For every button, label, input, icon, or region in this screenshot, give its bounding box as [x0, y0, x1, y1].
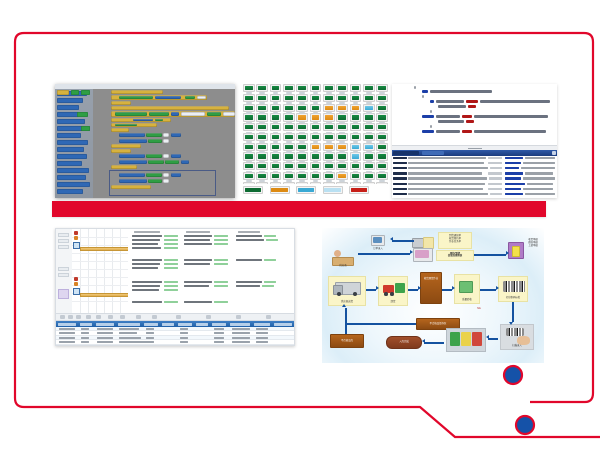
status-cell-green[interactable]	[376, 104, 388, 112]
block-control[interactable]	[111, 101, 131, 105]
cell-tick	[326, 122, 332, 124]
cell-tick	[259, 132, 265, 134]
table-cell	[256, 328, 268, 330]
table-body[interactable]	[56, 327, 294, 345]
column-header[interactable]	[230, 323, 250, 326]
cell-tick	[326, 161, 332, 163]
status-cell-green[interactable]	[323, 172, 335, 180]
palette-chip[interactable]	[71, 90, 79, 95]
block-field[interactable]	[163, 179, 169, 183]
column-header[interactable]	[80, 323, 92, 326]
status-cell-green[interactable]	[336, 123, 348, 131]
status-cell-green[interactable]	[310, 84, 322, 92]
cell-tick	[259, 180, 265, 182]
palette-chip[interactable]	[57, 133, 81, 138]
toolbar-icon[interactable]	[120, 315, 125, 319]
block-control[interactable]	[111, 185, 151, 189]
code-token	[474, 115, 548, 118]
block-variable[interactable]	[171, 112, 179, 116]
cell-tick	[326, 180, 332, 182]
block-field[interactable]	[163, 154, 169, 158]
status-cell-green[interactable]	[296, 94, 308, 102]
status-cell-green[interactable]	[336, 113, 348, 121]
block-variable[interactable]	[171, 133, 181, 137]
status-cell-green[interactable]	[376, 143, 388, 151]
status-cell-green[interactable]	[310, 94, 322, 102]
table-cell	[180, 332, 188, 334]
status-cell-green[interactable]	[243, 162, 255, 170]
column-header[interactable]	[178, 323, 192, 326]
status-cell-blue[interactable]	[350, 152, 362, 160]
flow-label-reject-store: 不合格品库	[331, 340, 363, 343]
status-cell-green[interactable]	[376, 182, 388, 184]
status-cell-green[interactable]	[256, 94, 268, 102]
toolbar-icon[interactable]	[266, 315, 271, 319]
cell-tick	[366, 151, 372, 153]
status-cell-green[interactable]	[350, 84, 362, 92]
table-cell	[146, 328, 154, 330]
block-control[interactable]	[111, 128, 129, 132]
status-cell-green[interactable]	[256, 182, 268, 184]
status-cell-orange[interactable]	[336, 143, 348, 151]
content-area: 供应商 订单录入 到货通知单 收货预约单 作业任务单 预约/到货 信息处理系统	[0, 0, 600, 450]
status-cell-green[interactable]	[243, 133, 255, 141]
block-logic[interactable]	[148, 160, 164, 164]
status-cell-green[interactable]	[283, 182, 295, 184]
log-path	[408, 177, 487, 179]
cell-tick	[379, 171, 385, 173]
scheduler-panel[interactable]	[55, 228, 295, 346]
toolbar-icon[interactable]	[152, 315, 157, 319]
table-cell	[81, 345, 89, 346]
status-cell-green[interactable]	[336, 94, 348, 102]
block-logic[interactable]	[146, 133, 162, 137]
status-cell-orange[interactable]	[336, 172, 348, 180]
status-cell-orange[interactable]	[350, 104, 362, 112]
status-cell-green[interactable]	[336, 152, 348, 160]
code-token	[430, 125, 432, 128]
status-cell-green[interactable]	[283, 94, 295, 102]
cell-tick	[246, 132, 252, 134]
table-cell	[59, 332, 75, 334]
terminal-screen-icon	[415, 250, 429, 258]
toolbar-icon[interactable]	[206, 315, 211, 319]
block-variable[interactable]	[181, 160, 189, 164]
log-output-list[interactable]	[392, 156, 557, 199]
block-field[interactable]	[223, 112, 235, 116]
status-cell-green[interactable]	[283, 84, 295, 92]
status-cell-green[interactable]	[296, 143, 308, 151]
block-field[interactable]	[181, 112, 205, 116]
status-cell-green[interactable]	[363, 133, 375, 141]
block-variable[interactable]	[119, 160, 147, 164]
column-header[interactable]	[254, 323, 270, 326]
status-cell-green[interactable]	[256, 162, 268, 170]
timeline-node[interactable]	[73, 242, 80, 249]
cell-tick	[273, 102, 279, 104]
block-variable[interactable]	[119, 173, 145, 177]
block-logic[interactable]	[148, 139, 162, 143]
table-cell	[232, 328, 250, 330]
status-cell-green[interactable]	[283, 152, 295, 160]
block-logic[interactable]	[115, 112, 147, 116]
status-cell-orange[interactable]	[336, 104, 348, 112]
status-cell-green[interactable]	[243, 84, 255, 92]
toolbar-icon[interactable]	[176, 315, 181, 319]
status-cell-green[interactable]	[296, 104, 308, 112]
status-cell-green[interactable]	[376, 84, 388, 92]
status-cell-blue[interactable]	[363, 143, 375, 151]
status-cell-green[interactable]	[283, 104, 295, 112]
status-cell-green[interactable]	[376, 123, 388, 131]
log-row[interactable]	[392, 197, 557, 198]
cell-tick	[299, 180, 305, 182]
status-cell-green[interactable]	[270, 182, 282, 184]
status-cell-green[interactable]	[323, 84, 335, 92]
cell-tick	[366, 180, 372, 182]
status-cell-green[interactable]	[363, 84, 375, 92]
block-variable[interactable]	[119, 133, 145, 137]
block-control[interactable]	[111, 144, 141, 148]
scheduler-timeline[interactable]	[72, 229, 128, 321]
status-cell-green[interactable]	[310, 172, 322, 180]
status-cell-green[interactable]	[376, 172, 388, 180]
palette-chip[interactable]	[57, 168, 89, 173]
block-logic[interactable]	[146, 154, 162, 158]
status-cell-green[interactable]	[376, 152, 388, 160]
status-cell-green[interactable]	[296, 84, 308, 92]
flow-node-putaway	[446, 328, 486, 352]
block-logic[interactable]	[207, 112, 221, 116]
block-variable[interactable]	[171, 154, 181, 158]
cell-tick	[366, 161, 372, 163]
status-cell-green[interactable]	[283, 133, 295, 141]
table-cell	[232, 332, 250, 334]
block-variable[interactable]	[133, 119, 153, 122]
status-cell-green[interactable]	[256, 152, 268, 160]
flow-node-unload: 卸货	[378, 276, 408, 306]
status-cell-green[interactable]	[270, 172, 282, 180]
block-control[interactable]	[111, 149, 131, 153]
status-cell-orange[interactable]	[323, 104, 335, 112]
table-cell	[256, 341, 268, 343]
block-variable[interactable]	[171, 173, 181, 177]
status-cell-green[interactable]	[270, 123, 282, 131]
status-cell-blue[interactable]	[350, 143, 362, 151]
status-cell-green[interactable]	[243, 113, 255, 121]
status-cell-green[interactable]	[243, 152, 255, 160]
toolbar-icon[interactable]	[136, 315, 141, 319]
status-cell-orange[interactable]	[323, 113, 335, 121]
sidebar-mini-box[interactable]	[58, 233, 69, 237]
status-cell-orange[interactable]	[310, 143, 322, 151]
sidebar-mini-box[interactable]	[58, 267, 69, 271]
code-log-panel[interactable]	[392, 84, 557, 198]
palette-chip[interactable]	[77, 112, 88, 117]
status-dot-red	[74, 231, 78, 235]
code-token	[466, 100, 478, 103]
code-editor[interactable]	[392, 84, 557, 145]
legend-swatch-pending	[323, 186, 343, 194]
status-cell-green[interactable]	[243, 94, 255, 102]
detail-line	[236, 235, 262, 237]
column-header[interactable]	[58, 323, 76, 326]
timeline-node[interactable]	[73, 288, 80, 295]
status-cell-green[interactable]	[323, 182, 335, 184]
sidebar-mini-box[interactable]	[58, 289, 69, 299]
block-variable[interactable]	[119, 139, 147, 143]
detail-line	[184, 243, 212, 245]
code-token	[430, 90, 492, 93]
palette-chip[interactable]	[57, 161, 82, 166]
status-cell-green[interactable]	[256, 133, 268, 141]
status-cell-green[interactable]	[363, 182, 375, 184]
status-cell-green[interactable]	[296, 182, 308, 184]
palette-chip[interactable]	[57, 105, 79, 110]
status-cell-green[interactable]	[350, 133, 362, 141]
status-cell-green[interactable]	[323, 123, 335, 131]
table-cell	[180, 341, 188, 343]
cell-tick	[366, 141, 372, 143]
blocks-palette[interactable]	[55, 89, 93, 198]
status-cell-orange[interactable]	[336, 182, 348, 184]
status-cell-green[interactable]	[270, 162, 282, 170]
block-variable[interactable]	[119, 154, 145, 158]
column-header[interactable]	[196, 323, 208, 326]
palette-chip[interactable]	[81, 126, 90, 131]
blocks-canvas[interactable]	[93, 89, 235, 198]
column-header[interactable]	[274, 323, 292, 326]
palette-chip[interactable]	[57, 119, 85, 124]
palette-chip[interactable]	[57, 98, 83, 103]
block-logic[interactable]	[115, 124, 137, 127]
toolbar-icon[interactable]	[60, 315, 65, 319]
palette-chip[interactable]	[57, 140, 88, 145]
toolbar-icon[interactable]	[68, 315, 73, 319]
grid-column	[112, 229, 113, 321]
table-cell	[97, 341, 113, 343]
status-cell-green[interactable]	[310, 104, 322, 112]
block-field[interactable]	[163, 139, 169, 143]
column-header[interactable]	[144, 323, 158, 326]
block-field[interactable]	[197, 96, 206, 100]
status-grid-row	[243, 172, 388, 180]
toolbar-icon[interactable]	[108, 315, 113, 319]
cell-tick	[366, 122, 372, 124]
cell-tick	[339, 151, 345, 153]
wheel-icon	[353, 292, 357, 296]
status-cell-green[interactable]	[350, 182, 362, 184]
status-cell-green[interactable]	[296, 123, 308, 131]
status-cell-green[interactable]	[350, 94, 362, 102]
toolbar-icon[interactable]	[86, 315, 91, 319]
status-cell-green[interactable]	[363, 123, 375, 131]
column-header[interactable]	[212, 323, 226, 326]
status-cell-green[interactable]	[376, 94, 388, 102]
status-cell-green[interactable]	[363, 113, 375, 121]
status-cell-green[interactable]	[243, 123, 255, 131]
detail-value	[214, 239, 228, 241]
status-cell-green[interactable]	[243, 143, 255, 151]
status-cell-green[interactable]	[350, 172, 362, 180]
flow-arrowhead	[496, 286, 499, 290]
status-cell-green[interactable]	[310, 152, 322, 160]
palette-chip[interactable]	[57, 182, 90, 187]
status-cell-green[interactable]	[310, 182, 322, 184]
status-cell-green[interactable]	[336, 84, 348, 92]
status-cell-green[interactable]	[363, 94, 375, 102]
status-cell-green[interactable]	[283, 162, 295, 170]
code-token	[438, 120, 464, 123]
status-cell-green[interactable]	[363, 152, 375, 160]
palette-chip[interactable]	[57, 147, 84, 152]
status-cell-blue[interactable]	[363, 104, 375, 112]
status-grid-row	[243, 152, 388, 160]
status-cell-green[interactable]	[323, 133, 335, 141]
sidebar-mini-box[interactable]	[58, 239, 69, 243]
toolbar-icon[interactable]	[236, 315, 241, 319]
cell-tick	[326, 171, 332, 173]
grid-column	[88, 229, 89, 321]
detail-value	[214, 301, 228, 303]
status-cell-green[interactable]	[270, 152, 282, 160]
status-cell-green[interactable]	[350, 113, 362, 121]
status-cell-green[interactable]	[256, 113, 268, 121]
status-cell-green[interactable]	[350, 123, 362, 131]
sidebar-mini-box[interactable]	[58, 245, 69, 249]
log-tag	[393, 157, 407, 159]
status-cell-green[interactable]	[256, 123, 268, 131]
status-cell-green[interactable]	[243, 182, 255, 184]
close-icon[interactable]	[552, 151, 556, 155]
block-variable[interactable]	[155, 96, 181, 100]
status-cell-green[interactable]	[376, 133, 388, 141]
log-path	[408, 188, 483, 190]
detail-value	[164, 285, 178, 287]
log-tag	[393, 162, 407, 164]
palette-chip[interactable]	[57, 189, 83, 194]
status-cell-green[interactable]	[296, 162, 308, 170]
status-cell-green[interactable]	[270, 113, 282, 121]
scheduler-details[interactable]	[128, 229, 294, 321]
toolbar-icon[interactable]	[76, 315, 81, 319]
table-row[interactable]	[56, 345, 294, 346]
status-cell-green[interactable]	[256, 143, 268, 151]
rack-icon	[450, 332, 460, 346]
status-cell-green[interactable]	[310, 162, 322, 170]
status-cell-green[interactable]	[256, 84, 268, 92]
palette-chip[interactable]	[81, 90, 90, 95]
status-cell-green[interactable]	[296, 152, 308, 160]
block-logic[interactable]	[146, 173, 162, 177]
block-logic[interactable]	[155, 119, 163, 122]
status-cell-green[interactable]	[283, 143, 295, 151]
table-cell	[81, 341, 89, 343]
palette-chip[interactable]	[57, 90, 69, 95]
table-cell	[232, 345, 250, 346]
block-logic[interactable]	[165, 160, 179, 164]
status-cell-green[interactable]	[283, 172, 295, 180]
cell-tick	[273, 141, 279, 143]
sidebar-mini-box[interactable]	[58, 273, 69, 277]
block-variable[interactable]	[119, 179, 147, 183]
block-field[interactable]	[163, 133, 169, 137]
block-logic[interactable]	[185, 96, 195, 100]
block-logic[interactable]	[149, 112, 169, 116]
status-cell-orange[interactable]	[296, 113, 308, 121]
status-cell-orange[interactable]	[310, 113, 322, 121]
log-tag	[393, 177, 407, 179]
detail-line	[132, 247, 161, 249]
table-cell	[119, 332, 137, 334]
block-logic[interactable]	[119, 96, 153, 100]
block-control[interactable]	[111, 165, 137, 169]
column-header[interactable]	[118, 323, 140, 326]
cell-tick	[286, 112, 292, 114]
toolbar-icon[interactable]	[96, 315, 101, 319]
status-cell-green[interactable]	[376, 162, 388, 170]
status-cell-green[interactable]	[323, 162, 335, 170]
status-grid-row	[243, 162, 388, 170]
status-cell-green[interactable]	[323, 94, 335, 102]
status-cell-green[interactable]	[310, 123, 322, 131]
status-cell-green[interactable]	[336, 133, 348, 141]
status-cell-green[interactable]	[296, 133, 308, 141]
status-cell-orange[interactable]	[323, 143, 335, 151]
status-dot-amber	[74, 236, 78, 240]
status-cell-green[interactable]	[270, 133, 282, 141]
status-cell-green[interactable]	[256, 172, 268, 180]
status-cell-green[interactable]	[270, 143, 282, 151]
status-cell-green[interactable]	[336, 162, 348, 170]
cell-tick	[286, 141, 292, 143]
column-header[interactable]	[162, 323, 174, 326]
block-control[interactable]	[111, 106, 229, 110]
status-cell-green[interactable]	[270, 94, 282, 102]
status-cell-green[interactable]	[296, 172, 308, 180]
status-cell-green[interactable]	[243, 104, 255, 112]
status-cell-green[interactable]	[243, 172, 255, 180]
cell-tick	[286, 122, 292, 124]
block-control[interactable]	[111, 90, 163, 94]
cell-tick	[273, 171, 279, 173]
status-cell-green[interactable]	[270, 84, 282, 92]
block-field[interactable]	[163, 173, 169, 177]
status-cell-green[interactable]	[323, 152, 335, 160]
block-logic[interactable]	[148, 179, 162, 183]
red-divider-banner	[52, 201, 546, 217]
flow-arrowhead	[422, 339, 425, 343]
blocks-editor-panel[interactable]	[55, 84, 235, 198]
status-cell-green[interactable]	[256, 104, 268, 112]
status-cell-green[interactable]	[363, 172, 375, 180]
status-grid-panel[interactable]	[243, 84, 388, 184]
flow-label-ng: NG	[472, 308, 486, 311]
table-toolbar[interactable]	[56, 313, 294, 321]
column-header[interactable]	[96, 323, 114, 326]
status-cell-green[interactable]	[283, 113, 295, 121]
log-time	[488, 157, 502, 159]
status-cell-green[interactable]	[283, 123, 295, 131]
status-cell-green[interactable]	[270, 104, 282, 112]
palette-chip[interactable]	[57, 175, 86, 180]
cell-tick	[353, 92, 359, 94]
status-cell-green[interactable]	[310, 133, 322, 141]
status-cell-green[interactable]	[350, 162, 362, 170]
status-cell-green[interactable]	[363, 162, 375, 170]
status-cell-green[interactable]	[376, 113, 388, 121]
palette-chip[interactable]	[57, 154, 87, 159]
